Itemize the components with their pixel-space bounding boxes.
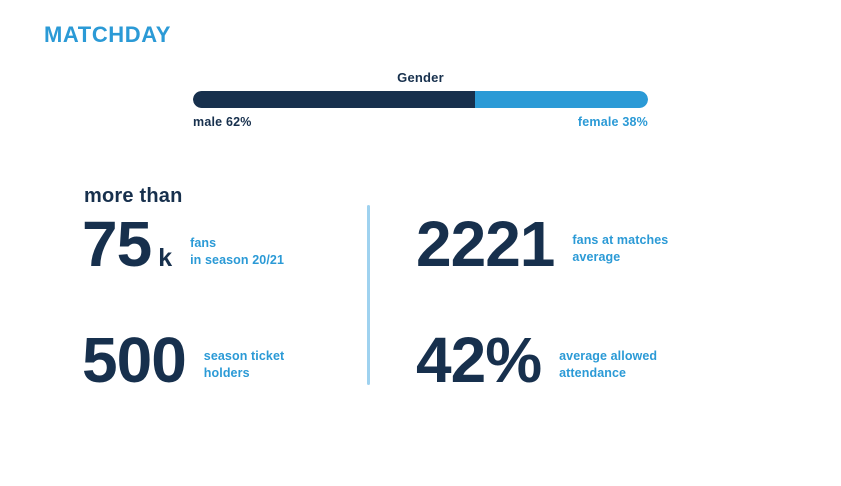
column-divider — [367, 205, 370, 385]
stat-value-group: 42% — [416, 334, 541, 386]
stat-caption: season ticket holders — [204, 348, 285, 381]
infographic-slide: MATCHDAY Gender male 62% female 38% more… — [0, 0, 841, 486]
gender-legend: male 62% female 38% — [193, 115, 648, 129]
stat-value-group: 500 — [82, 334, 186, 386]
stat-caption-line-1: fans — [190, 235, 284, 252]
stat-number: 75 — [82, 218, 151, 270]
stat-season-ticket-holders: 500 season ticket holders — [82, 334, 284, 386]
gender-stacked-bar — [193, 91, 648, 108]
stat-caption-line-2: in season 20/21 — [190, 252, 284, 269]
legend-male-label: male 62% — [193, 115, 252, 129]
stat-value-group: 2221 — [416, 218, 554, 270]
stat-number: 2221 — [416, 218, 554, 270]
bar-segment-male — [193, 91, 475, 108]
stat-number: 42% — [416, 334, 541, 386]
stat-unit: k — [158, 244, 172, 273]
stat-caption-line-2: average — [572, 249, 668, 266]
stat-caption-line-2: attendance — [559, 365, 657, 382]
gender-chart-title: Gender — [193, 70, 648, 85]
stat-caption-line-1: season ticket — [204, 348, 285, 365]
bar-segment-female — [475, 91, 648, 108]
legend-female-label: female 38% — [578, 115, 648, 129]
stat-fans-season: more than 75 k fans in season 20/21 — [82, 218, 284, 273]
stat-average-allowed-attendance: 42% average allowed attendance — [416, 334, 657, 386]
stat-average-fans: 2221 fans at matches average — [416, 218, 668, 270]
stat-caption: average allowed attendance — [559, 348, 657, 381]
stat-prefix: more than — [84, 185, 182, 208]
gender-chart: Gender male 62% female 38% — [193, 70, 648, 129]
stat-value-group: more than 75 k — [82, 218, 172, 273]
page-title: MATCHDAY — [44, 22, 171, 48]
stat-number: 500 — [82, 334, 186, 386]
stat-caption-line-1: average allowed — [559, 348, 657, 365]
stat-caption-line-2: holders — [204, 365, 285, 382]
stat-caption-line-1: fans at matches — [572, 232, 668, 249]
stat-caption: fans at matches average — [572, 232, 668, 265]
stat-caption: fans in season 20/21 — [190, 235, 284, 268]
